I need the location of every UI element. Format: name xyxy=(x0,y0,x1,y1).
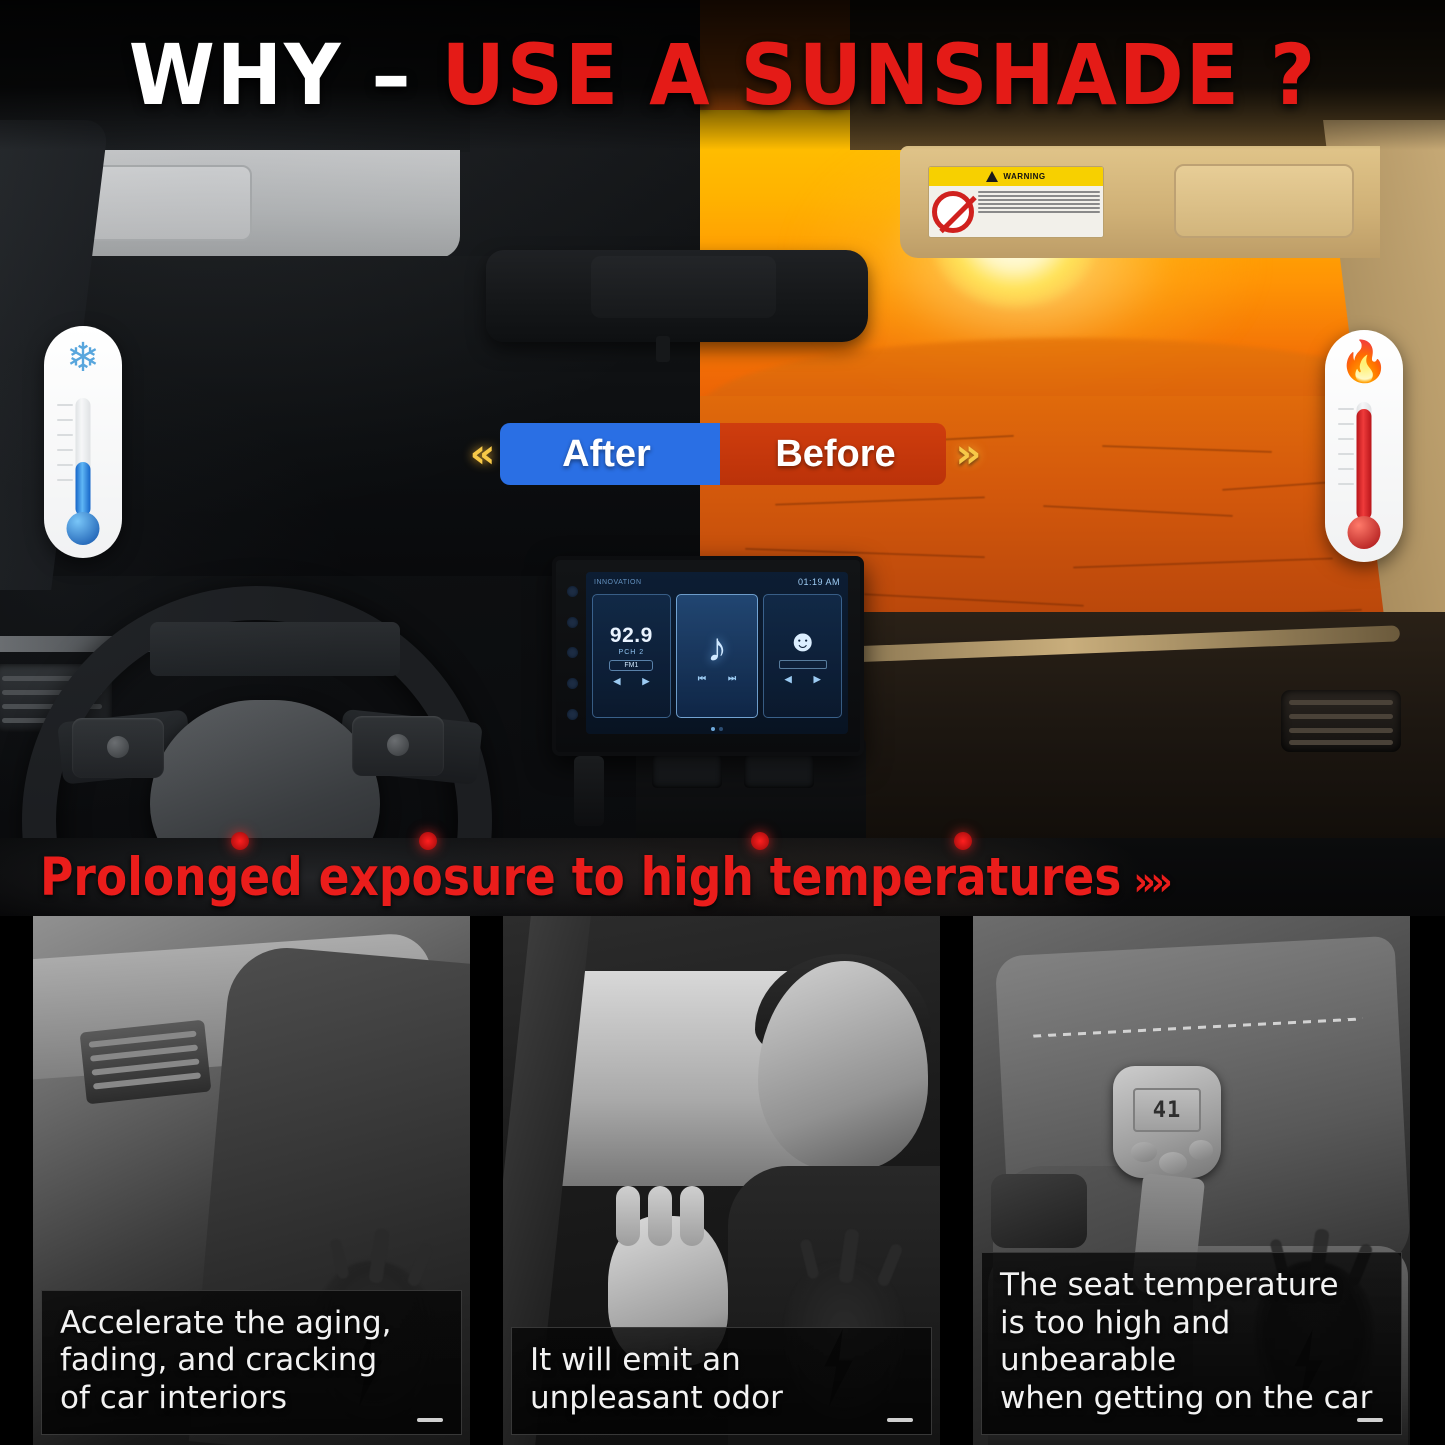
page-indicator-dots[interactable] xyxy=(586,727,848,731)
thermometer-cold-bulb xyxy=(67,512,100,545)
steering-wheel-spoke-left xyxy=(57,709,193,784)
wrist-watch xyxy=(991,1174,1087,1248)
steering-wheel xyxy=(22,586,492,838)
radio-prev-icon[interactable]: ◀ xyxy=(613,676,620,687)
head-unit-cards: 92.9 PCH 2 FM1 ◀ ▶ ♪ ⏮ ⏭ xyxy=(592,594,842,718)
head-unit-brand-label: INNOVATION xyxy=(594,579,642,586)
flame-icon: 🔥 xyxy=(1339,342,1389,382)
caption-text-3: The seat temperature is too high and unb… xyxy=(1000,1267,1385,1418)
dash-trim-left xyxy=(0,636,180,652)
radio-card[interactable]: 92.9 PCH 2 FM1 ◀ ▶ xyxy=(592,594,671,718)
steering-wheel-spoke-right xyxy=(337,709,483,785)
page-dot-inactive[interactable] xyxy=(719,727,723,731)
radio-preset: PCH 2 xyxy=(619,649,645,656)
sun-visor-tan: WARNING xyxy=(900,146,1380,258)
sunshade-product-poster: WARNING xyxy=(0,0,1445,1445)
sun-visor-gray xyxy=(0,150,460,258)
ir-gun-button-1[interactable] xyxy=(1131,1142,1157,1162)
panel-caption-2: It will emit an unpleasant odor xyxy=(511,1327,932,1435)
radio-next-icon[interactable]: ▶ xyxy=(642,676,649,687)
infrared-thermometer-gun: 41 xyxy=(1113,1066,1231,1186)
hu-button-volume[interactable] xyxy=(567,647,578,658)
hu-button-home[interactable] xyxy=(567,678,578,689)
hu-button-back[interactable] xyxy=(567,709,578,720)
air-vent-left xyxy=(0,664,112,732)
caption-text-1: Accelerate the aging, fading, and cracki… xyxy=(60,1305,445,1418)
steering-wheel-top-spoke xyxy=(150,622,400,676)
rearview-mirror-housing xyxy=(591,256,776,318)
head-unit-mount xyxy=(574,756,604,826)
ir-gun-display: 41 xyxy=(1133,1088,1201,1132)
steering-wheel-airbag-hub xyxy=(150,700,380,838)
steering-controls-left xyxy=(72,718,164,778)
mirror-tab xyxy=(6,160,22,218)
benefit-panels-row: Accelerate the aging, fading, and cracki… xyxy=(0,916,1445,1445)
dashboard-vent xyxy=(80,1020,212,1105)
mid-banner-text: Prolonged exposure to high temperatures xyxy=(40,847,1121,908)
ir-gun-button-2[interactable] xyxy=(1159,1152,1187,1174)
hu-button-power[interactable] xyxy=(567,586,578,597)
after-before-comparison-bar: « After Before » xyxy=(0,418,1445,490)
air-vent-right xyxy=(1281,690,1401,752)
warning-triangle-icon xyxy=(986,171,998,182)
music-note-icon: ♪ xyxy=(707,628,727,668)
caption-underscore-3 xyxy=(1357,1418,1383,1422)
rearview-mirror-stem xyxy=(656,336,670,362)
phone-next-icon[interactable]: ▶ xyxy=(814,674,821,685)
track-prev-icon[interactable]: ⏮ xyxy=(698,673,706,684)
head-unit-statusbar: INNOVATION 01:19 AM xyxy=(586,572,848,592)
media-card[interactable]: ♪ ⏮ ⏭ xyxy=(676,594,759,718)
console-vent-left xyxy=(652,754,722,788)
panel-seat-temperature: 41 The seat temperature is too high and … xyxy=(973,916,1410,1445)
mid-banner-text-wrap: Prolonged exposure to high temperatures»… xyxy=(40,847,1168,908)
panel-interior-aging: Accelerate the aging, fading, and cracki… xyxy=(33,916,470,1445)
head-unit-side-buttons[interactable] xyxy=(562,576,582,730)
title-white-part: WHY – xyxy=(128,26,412,124)
chevron-right-icon: » xyxy=(946,434,986,474)
after-badge[interactable]: After xyxy=(500,423,720,485)
page-title: WHY – USE A SUNSHADE ? xyxy=(128,33,1316,117)
track-next-icon[interactable]: ⏭ xyxy=(728,673,736,684)
page-dot-active[interactable] xyxy=(711,727,715,731)
caption-underscore-1 xyxy=(417,1418,443,1422)
panel-unpleasant-odor: It will emit an unpleasant odor xyxy=(503,916,940,1445)
airbag-warning-label: WARNING xyxy=(928,166,1104,238)
title-red-part: USE A SUNSHADE ? xyxy=(441,26,1317,124)
radio-frequency: 92.9 xyxy=(610,625,653,646)
snowflake-icon: ❄ xyxy=(66,338,100,378)
console-vent-right xyxy=(744,754,814,788)
radio-nav[interactable]: ◀ ▶ xyxy=(613,676,649,687)
panel-caption-3: The seat temperature is too high and unb… xyxy=(981,1252,1402,1435)
rearview-mirror xyxy=(486,250,868,342)
panel-caption-1: Accelerate the aging, fading, and cracki… xyxy=(41,1290,462,1435)
warning-label-textlines xyxy=(978,189,1100,234)
head-unit-clock: 01:19 AM xyxy=(798,577,840,587)
phone-nav[interactable]: ◀ ▶ xyxy=(785,674,821,685)
radio-band[interactable]: FM1 xyxy=(609,660,653,671)
person-icon: ☻ xyxy=(787,627,819,657)
caption-text-2: It will emit an unpleasant odor xyxy=(530,1342,915,1418)
contact-bar xyxy=(779,660,827,669)
chevron-left-icon: « xyxy=(460,434,500,474)
hero-comparison-scene: WARNING xyxy=(0,0,1445,838)
mid-banner: Prolonged exposure to high temperatures»… xyxy=(0,838,1445,916)
visor-pocket xyxy=(1174,164,1354,238)
no-child-seat-prohibition-icon xyxy=(932,191,974,233)
mid-banner-arrows-icon: »» xyxy=(1133,859,1167,905)
before-badge[interactable]: Before xyxy=(720,423,946,485)
steering-controls-right xyxy=(352,716,444,776)
infotainment-head-unit[interactable]: INNOVATION 01:19 AM 92.9 PCH 2 FM1 ◀ ▶ xyxy=(552,556,864,756)
hu-button-menu[interactable] xyxy=(567,617,578,628)
warning-label-body xyxy=(929,186,1103,237)
headline-bar: WHY – USE A SUNSHADE ? xyxy=(0,0,1445,150)
phone-card[interactable]: ☻ ◀ ▶ xyxy=(763,594,842,718)
ir-gun-button-3[interactable] xyxy=(1189,1140,1213,1160)
warning-label-header: WARNING xyxy=(929,167,1103,186)
warning-label-text: WARNING xyxy=(1003,172,1045,181)
vanity-mirror-cover xyxy=(52,165,252,241)
phone-prev-icon[interactable]: ◀ xyxy=(785,674,792,685)
media-nav[interactable]: ⏮ ⏭ xyxy=(698,673,736,684)
thermometer-hot-bulb xyxy=(1348,516,1381,549)
caption-underscore-2 xyxy=(887,1418,913,1422)
head-unit-screen[interactable]: INNOVATION 01:19 AM 92.9 PCH 2 FM1 ◀ ▶ xyxy=(586,572,848,734)
